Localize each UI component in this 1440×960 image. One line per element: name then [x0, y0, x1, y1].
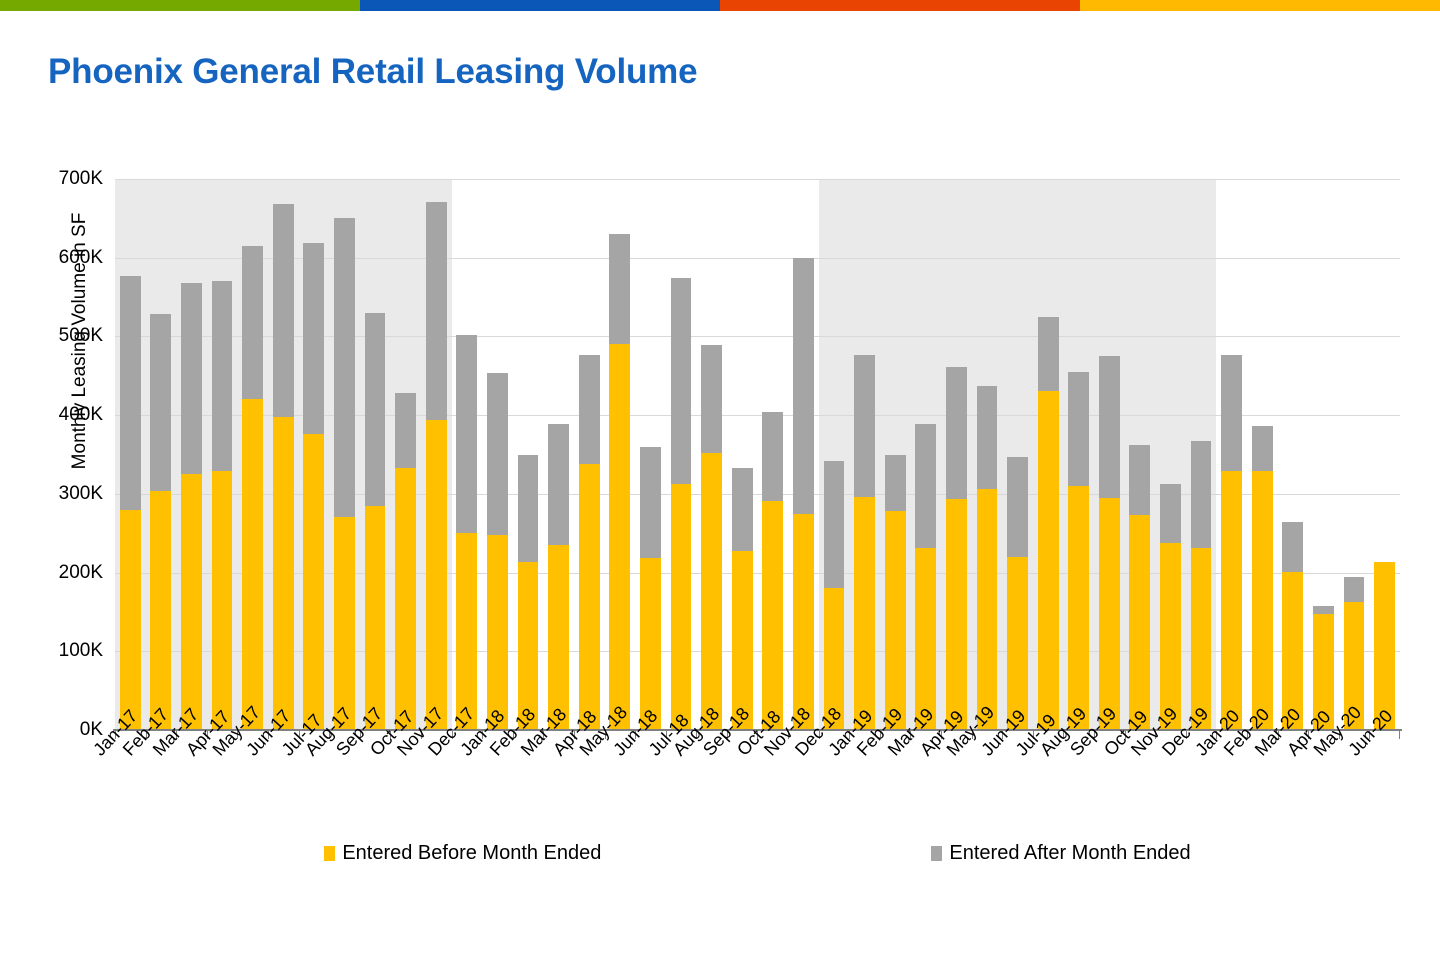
bar-segment-entered-before[interactable]: [395, 468, 416, 730]
bar-segment-entered-after[interactable]: [1007, 457, 1028, 557]
x-label-slot: Sep-19: [1094, 742, 1125, 837]
bar-segment-entered-before[interactable]: [701, 453, 722, 730]
bar-segment-entered-after[interactable]: [518, 455, 539, 562]
bar-segment-entered-after[interactable]: [426, 202, 447, 420]
bar-slot[interactable]: [1063, 179, 1094, 730]
bar-segment-entered-before[interactable]: [1160, 543, 1181, 730]
bar-slot[interactable]: [605, 179, 636, 730]
y-tick-label: 600K: [33, 247, 103, 269]
bar-segment-entered-before[interactable]: [1099, 498, 1120, 730]
bar-stack[interactable]: [1374, 562, 1395, 730]
bar-slot[interactable]: [666, 179, 697, 730]
legend-swatch-icon: [324, 846, 335, 861]
bar-slot[interactable]: [972, 179, 1003, 730]
bar-slot[interactable]: [1033, 179, 1064, 730]
bar-slot[interactable]: [1308, 179, 1339, 730]
bar-stack[interactable]: [120, 276, 141, 730]
brand-color-bar: [0, 0, 1440, 11]
bar-segment-entered-after[interactable]: [120, 276, 141, 510]
bar-segment-entered-after[interactable]: [1068, 372, 1089, 486]
chart-page: Phoenix General Retail Leasing Volume Mo…: [0, 0, 1440, 960]
bar-stack[interactable]: [1160, 484, 1181, 730]
y-tick-label: 400K: [33, 404, 103, 426]
bar-stack[interactable]: [854, 355, 875, 730]
bar-segment-entered-before[interactable]: [456, 533, 477, 730]
bar-segment-entered-before[interactable]: [1068, 486, 1089, 730]
y-tick-label: 0K: [33, 719, 103, 741]
bar-segment-entered-after[interactable]: [181, 283, 202, 474]
bar-segment-entered-after[interactable]: [640, 447, 661, 558]
bar-stack[interactable]: [1221, 355, 1242, 730]
bar-slot[interactable]: [574, 179, 605, 730]
bar-segment-entered-before[interactable]: [579, 464, 600, 730]
bar-segment-entered-before[interactable]: [732, 551, 753, 730]
bar-slot[interactable]: [1002, 179, 1033, 730]
y-tick-label: 100K: [33, 640, 103, 662]
bar-stack[interactable]: [671, 278, 692, 730]
bar-stack[interactable]: [762, 412, 783, 730]
bar-slot[interactable]: [1125, 179, 1156, 730]
bar-stack[interactable]: [242, 246, 263, 730]
bar-segment-entered-before[interactable]: [671, 484, 692, 730]
bar-slot[interactable]: [482, 179, 513, 730]
bar-segment-entered-after[interactable]: [762, 412, 783, 501]
brand-bar-segment-blue: [360, 0, 720, 11]
chart-legend: Entered Before Month EndedEntered After …: [115, 842, 1400, 865]
bar-segment-entered-before[interactable]: [1129, 515, 1150, 730]
bar-segment-entered-before[interactable]: [303, 434, 324, 730]
bar-segment-entered-before[interactable]: [762, 501, 783, 730]
bar-segment-entered-before[interactable]: [548, 545, 569, 730]
legend-swatch-icon: [931, 846, 942, 861]
bar-stack[interactable]: [824, 461, 845, 730]
bar-segment-entered-after[interactable]: [487, 373, 508, 535]
bar-slot[interactable]: [1247, 179, 1278, 730]
bar-slot[interactable]: [421, 179, 452, 730]
legend-item-2[interactable]: Entered After Month Ended: [931, 842, 1190, 865]
bar-slot[interactable]: [452, 179, 483, 730]
bar-segment-entered-after[interactable]: [793, 258, 814, 515]
bar-segment-entered-before[interactable]: [242, 399, 263, 730]
x-label-slot: May-19: [972, 742, 1003, 837]
bar-segment-entered-before[interactable]: [273, 417, 294, 730]
x-axis-tick-labels: Jan-17Feb-17Mar-17Apr-17May-17Jun-17Jul-…: [115, 742, 1400, 837]
bar-stack[interactable]: [1007, 457, 1028, 730]
y-axis-title: Monthly Leasing Volume in SF: [69, 181, 91, 501]
bar-segment-entered-after[interactable]: [579, 355, 600, 464]
bar-segment-entered-after[interactable]: [609, 234, 630, 343]
bar-slot[interactable]: [1369, 179, 1400, 730]
bar-slot[interactable]: [176, 179, 207, 730]
y-tick-label: 500K: [33, 325, 103, 347]
bar-stack[interactable]: [977, 386, 998, 730]
page-title: Phoenix General Retail Leasing Volume: [48, 52, 697, 92]
bar-segment-entered-after[interactable]: [365, 313, 386, 507]
bar-segment-entered-before[interactable]: [609, 344, 630, 730]
bar-stack[interactable]: [1129, 445, 1150, 730]
bar-segment-entered-after[interactable]: [701, 345, 722, 453]
bar-segment-entered-after[interactable]: [885, 455, 906, 512]
bar-segment-entered-after[interactable]: [1221, 355, 1242, 471]
bar-segment-entered-after[interactable]: [1038, 317, 1059, 391]
x-label-slot: Mar-19: [910, 742, 941, 837]
bar-stack[interactable]: [548, 424, 569, 730]
bar-segment-entered-before[interactable]: [793, 514, 814, 730]
bar-segment-entered-before[interactable]: [334, 517, 355, 730]
bar-segment-entered-before[interactable]: [1038, 391, 1059, 730]
brand-bar-segment-amber: [1080, 0, 1440, 11]
bar-stack[interactable]: [395, 393, 416, 730]
bar-segment-entered-before[interactable]: [1221, 471, 1242, 730]
bar-segment-entered-after[interactable]: [946, 367, 967, 499]
bar-slot[interactable]: [941, 179, 972, 730]
bar-segment-entered-before[interactable]: [426, 420, 447, 730]
bar-stack[interactable]: [732, 468, 753, 730]
bar-segment-entered-after[interactable]: [915, 424, 936, 548]
plot-background: [115, 179, 1400, 730]
bar-slot[interactable]: [1216, 179, 1247, 730]
bar-segment-entered-after[interactable]: [1252, 426, 1273, 471]
bar-slot[interactable]: [880, 179, 911, 730]
y-tick-label: 200K: [33, 562, 103, 584]
bar-stack[interactable]: [915, 424, 936, 730]
bar-segment-entered-before[interactable]: [1252, 471, 1273, 730]
bar-slot[interactable]: [115, 179, 146, 730]
bar-segment-entered-before[interactable]: [487, 535, 508, 730]
brand-bar-segment-green: [0, 0, 360, 11]
bar-segment-entered-after[interactable]: [212, 281, 233, 471]
bar-stack[interactable]: [273, 204, 294, 730]
bar-stack[interactable]: [1282, 522, 1303, 730]
bar-stack[interactable]: [1099, 356, 1120, 730]
bar-segment-entered-before[interactable]: [518, 562, 539, 730]
x-label-slot: Jun-20: [1369, 742, 1400, 837]
bar-slot[interactable]: [1155, 179, 1186, 730]
bar-slot[interactable]: [390, 179, 421, 730]
bar-stack[interactable]: [1252, 426, 1273, 730]
legend-label: Entered Before Month Ended: [342, 842, 601, 865]
bar-segment-entered-after[interactable]: [977, 386, 998, 489]
bar-slot[interactable]: [268, 179, 299, 730]
bar-stack[interactable]: [579, 355, 600, 730]
bar-segment-entered-after[interactable]: [854, 355, 875, 497]
x-label-slot: Mar-17: [176, 742, 207, 837]
bar-segment-entered-after[interactable]: [1129, 445, 1150, 515]
bar-segment-entered-after[interactable]: [1344, 577, 1365, 602]
bar-segment-entered-before[interactable]: [1007, 557, 1028, 730]
bar-stack[interactable]: [487, 373, 508, 730]
bar-slot[interactable]: [635, 179, 666, 730]
bar-slot[interactable]: [727, 179, 758, 730]
bar-stack[interactable]: [793, 258, 814, 730]
bar-stack[interactable]: [334, 218, 355, 730]
x-label-slot: Mar-20: [1278, 742, 1309, 837]
legend-item-1[interactable]: Entered Before Month Ended: [324, 842, 601, 865]
bar-stack[interactable]: [426, 202, 447, 730]
bar-slot[interactable]: [237, 179, 268, 730]
plot-area: [115, 179, 1400, 730]
bar-slot[interactable]: [207, 179, 238, 730]
bar-stack[interactable]: [609, 234, 630, 730]
legend-label: Entered After Month Ended: [949, 842, 1190, 865]
bar-segment-entered-before[interactable]: [212, 471, 233, 730]
bar-segment-entered-after[interactable]: [824, 461, 845, 588]
y-tick-label: 700K: [33, 168, 103, 190]
bar-segment-entered-after[interactable]: [395, 393, 416, 468]
bar-segment-entered-before[interactable]: [365, 506, 386, 730]
bar-segment-entered-after[interactable]: [1099, 356, 1120, 498]
bar-slot[interactable]: [757, 179, 788, 730]
y-tick-label: 300K: [33, 483, 103, 505]
bar-segment-entered-after[interactable]: [671, 278, 692, 483]
x-label-slot: Mar-18: [543, 742, 574, 837]
bar-stack[interactable]: [1191, 441, 1212, 730]
bar-segment-entered-after[interactable]: [242, 246, 263, 399]
bar-series-layer: [115, 179, 1400, 730]
bar-slot[interactable]: [1094, 179, 1125, 730]
x-label-slot: Dec-19: [1186, 742, 1217, 837]
bar-segment-entered-after[interactable]: [732, 468, 753, 551]
bar-slot[interactable]: [788, 179, 819, 730]
bar-segment-entered-after[interactable]: [273, 204, 294, 417]
bar-slot[interactable]: [1339, 179, 1370, 730]
bar-slot[interactable]: [146, 179, 177, 730]
bar-segment-entered-before[interactable]: [854, 497, 875, 730]
bar-segment-entered-before[interactable]: [977, 489, 998, 730]
bar-segment-entered-before[interactable]: [915, 548, 936, 730]
bar-segment-entered-after[interactable]: [1282, 522, 1303, 572]
bar-segment-entered-before[interactable]: [181, 474, 202, 730]
bar-slot[interactable]: [299, 179, 330, 730]
bar-segment-entered-after[interactable]: [548, 424, 569, 545]
bar-stack[interactable]: [365, 313, 386, 730]
bar-slot[interactable]: [1186, 179, 1217, 730]
bar-stack[interactable]: [640, 447, 661, 730]
bar-slot[interactable]: [543, 179, 574, 730]
brand-bar-segment-orange: [720, 0, 1080, 11]
bar-segment-entered-after[interactable]: [303, 243, 324, 434]
bar-stack[interactable]: [701, 345, 722, 730]
bar-segment-entered-before[interactable]: [1191, 548, 1212, 730]
bar-slot[interactable]: [819, 179, 850, 730]
bar-stack[interactable]: [150, 314, 171, 730]
x-label-slot: May-20: [1339, 742, 1370, 837]
bar-segment-entered-before[interactable]: [1374, 562, 1395, 730]
bar-segment-entered-before[interactable]: [640, 558, 661, 730]
bar-stack[interactable]: [885, 455, 906, 730]
bar-stack[interactable]: [946, 367, 967, 730]
bar-segment-entered-after[interactable]: [1313, 606, 1334, 614]
bar-slot[interactable]: [910, 179, 941, 730]
bar-stack[interactable]: [181, 283, 202, 730]
bar-slot[interactable]: [329, 179, 360, 730]
bar-stack[interactable]: [1038, 317, 1059, 730]
bar-segment-entered-before[interactable]: [885, 511, 906, 730]
bar-slot[interactable]: [696, 179, 727, 730]
x-label-slot: Dec-18: [819, 742, 850, 837]
bar-stack[interactable]: [456, 335, 477, 730]
bar-stack[interactable]: [212, 281, 233, 730]
bar-segment-entered-before[interactable]: [150, 491, 171, 730]
x-label-slot: Sep-18: [727, 742, 758, 837]
bar-segment-entered-after[interactable]: [150, 314, 171, 490]
bar-stack[interactable]: [303, 243, 324, 730]
bar-segment-entered-after[interactable]: [334, 218, 355, 517]
x-label-slot: Sep-17: [360, 742, 391, 837]
bar-slot[interactable]: [849, 179, 880, 730]
bar-slot[interactable]: [360, 179, 391, 730]
bar-segment-entered-before[interactable]: [946, 499, 967, 730]
bar-slot[interactable]: [1278, 179, 1309, 730]
bar-segment-entered-before[interactable]: [120, 510, 141, 730]
bar-segment-entered-after[interactable]: [1160, 484, 1181, 543]
bar-segment-entered-after[interactable]: [456, 335, 477, 533]
bar-stack[interactable]: [518, 455, 539, 730]
bar-stack[interactable]: [1068, 372, 1089, 730]
bar-segment-entered-after[interactable]: [1191, 441, 1212, 548]
bar-slot[interactable]: [513, 179, 544, 730]
